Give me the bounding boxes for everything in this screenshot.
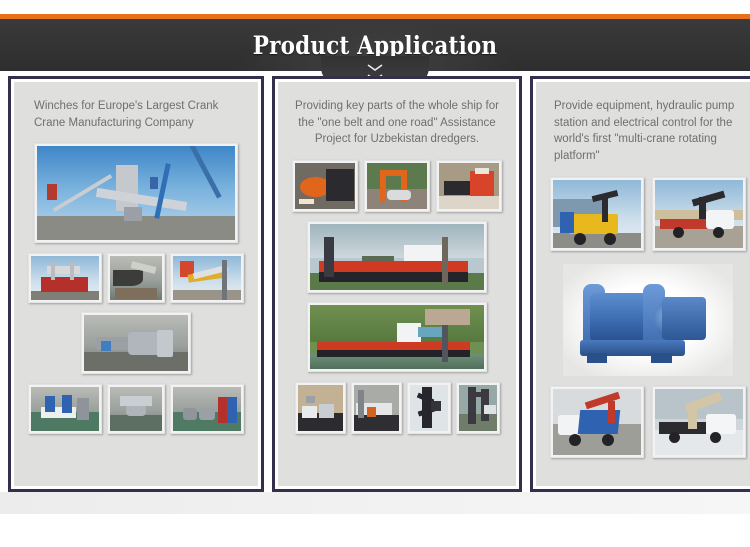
winch-units-warehouse-photo[interactable] [295,382,346,434]
bottom-strip [0,492,750,514]
gearbox-assembly-photo[interactable] [81,312,191,374]
application-panels: Winches for Europe's Largest Crank Crane… [0,76,750,492]
crane-lifting-truss-photo[interactable] [170,253,244,303]
yellow-truck-crane-photo[interactable] [550,177,644,251]
dredger-workshop-photo[interactable] [436,160,502,212]
red-platform-module-photo[interactable] [28,253,102,303]
panel-caption: Winches for Europe's Largest Crank Crane… [28,98,244,131]
slewing-bearing-photo[interactable] [107,384,165,434]
cutter-head-photo[interactable] [292,160,358,212]
ship-hull-winch-photo[interactable] [107,253,165,303]
spud-frame-photo[interactable] [456,382,500,434]
blue-dump-truck-crane-photo[interactable] [550,386,644,458]
blue-hydraulic-winch-product-photo[interactable] [563,264,733,376]
top-spacer [0,0,750,14]
panel-uzbekistan-dredgers[interactable]: Providing key parts of the whole ship fo… [272,76,522,492]
panel-multi-crane-platform[interactable]: Provide equipment, hydraulic pump statio… [530,76,750,492]
white-boom-truck-photo[interactable] [652,386,746,458]
product-application-page: Product Application Winches for Europe's… [0,0,750,547]
dredger-vessel-photo[interactable] [307,221,487,293]
large-crane-assembly-photo[interactable] [34,143,238,243]
dredger-deck-machinery-photo[interactable] [364,160,430,212]
chevron-down-icon [367,64,383,71]
dredger-vessel-river-photo[interactable] [307,302,487,372]
ladder-gantry-photo[interactable] [407,382,451,434]
panel-crane-winches[interactable]: Winches for Europe's Largest Crank Crane… [8,76,264,492]
spud-carriage-assembly-photo[interactable] [351,382,402,434]
bottom-spacer [0,514,750,547]
white-truck-knuckle-crane-photo[interactable] [652,177,746,251]
motor-pump-set-photo[interactable] [170,384,244,434]
panel-caption: Providing key parts of the whole ship fo… [292,98,502,148]
panel-caption: Provide equipment, hydraulic pump statio… [550,98,746,165]
hydraulic-power-unit-photo[interactable] [28,384,102,434]
